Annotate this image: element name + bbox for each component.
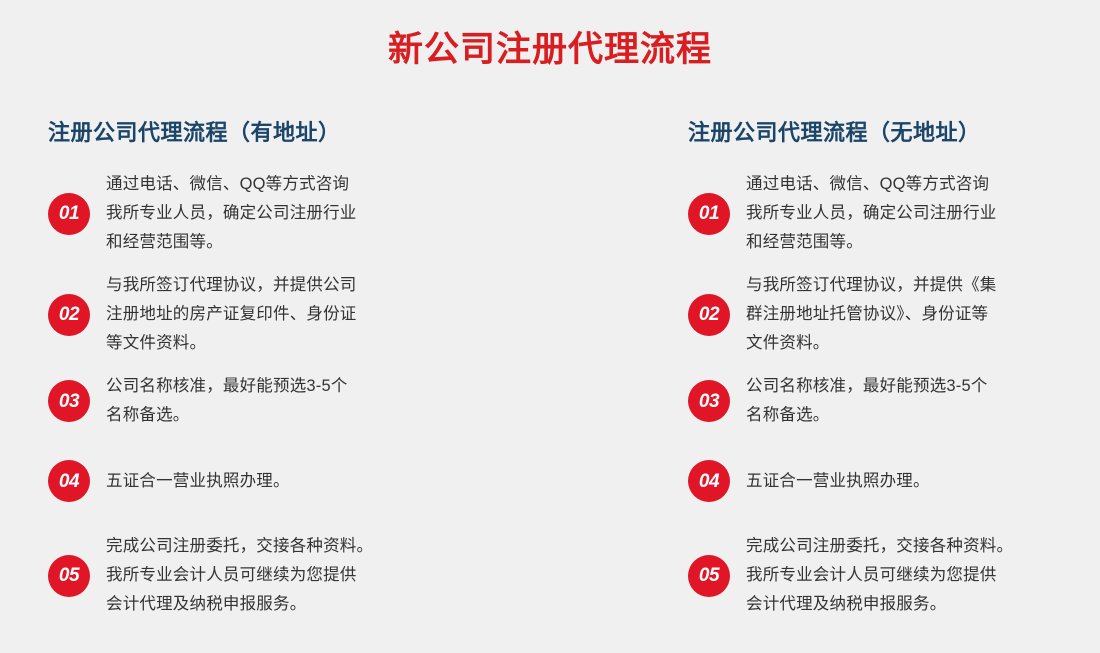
step-item: 03 公司名称核准，最好能预选3-5个 名称备选。 bbox=[48, 372, 550, 430]
step-item: 05 完成公司注册委托，交接各种资料。 我所专业会计人员可继续为您提供 会计代理… bbox=[688, 532, 1100, 619]
step-item: 05 完成公司注册委托，交接各种资料。 我所专业会计人员可继续为您提供 会计代理… bbox=[48, 532, 550, 619]
step-number-badge: 04 bbox=[688, 460, 730, 502]
step-description: 与我所签订代理协议，并提供公司 注册地址的房产证复印件、身份证 等文件资料。 bbox=[106, 271, 357, 358]
columns-container: 注册公司代理流程（有地址） 01 通过电话、微信、QQ等方式咨询 我所专业人员，… bbox=[0, 118, 1100, 633]
step-description: 五证合一营业执照办理。 bbox=[746, 467, 930, 496]
step-number-badge: 02 bbox=[688, 294, 730, 336]
step-item: 04 五证合一营业执照办理。 bbox=[688, 460, 1100, 502]
step-item: 01 通过电话、微信、QQ等方式咨询 我所专业人员，确定公司注册行业 和经营范围… bbox=[688, 170, 1100, 257]
step-description: 通过电话、微信、QQ等方式咨询 我所专业人员，确定公司注册行业 和经营范围等。 bbox=[106, 170, 357, 257]
column-with-address: 注册公司代理流程（有地址） 01 通过电话、微信、QQ等方式咨询 我所专业人员，… bbox=[0, 118, 550, 633]
step-description: 完成公司注册委托，交接各种资料。 我所专业会计人员可继续为您提供 会计代理及纳税… bbox=[106, 532, 373, 619]
step-description: 与我所签订代理协议，并提供《集 群注册地址托管协议》、身份证等 文件资料。 bbox=[746, 271, 997, 358]
steps-list-with-address: 01 通过电话、微信、QQ等方式咨询 我所专业人员，确定公司注册行业 和经营范围… bbox=[48, 170, 550, 619]
step-item: 02 与我所签订代理协议，并提供《集 群注册地址托管协议》、身份证等 文件资料。 bbox=[688, 271, 1100, 358]
step-number-badge: 05 bbox=[688, 555, 730, 597]
step-item: 01 通过电话、微信、QQ等方式咨询 我所专业人员，确定公司注册行业 和经营范围… bbox=[48, 170, 550, 257]
column-heading-with-address: 注册公司代理流程（有地址） bbox=[48, 118, 550, 148]
step-description: 五证合一营业执照办理。 bbox=[106, 467, 290, 496]
steps-list-without-address: 01 通过电话、微信、QQ等方式咨询 我所专业人员，确定公司注册行业 和经营范围… bbox=[688, 170, 1100, 619]
step-number-badge: 01 bbox=[48, 193, 90, 235]
step-item: 03 公司名称核准，最好能预选3-5个 名称备选。 bbox=[688, 372, 1100, 430]
step-description: 公司名称核准，最好能预选3-5个 名称备选。 bbox=[746, 372, 988, 430]
step-number-badge: 01 bbox=[688, 193, 730, 235]
step-number-badge: 02 bbox=[48, 294, 90, 336]
column-without-address: 注册公司代理流程（无地址） 01 通过电话、微信、QQ等方式咨询 我所专业人员，… bbox=[550, 118, 1100, 633]
infographic-page: 新公司注册代理流程 注册公司代理流程（有地址） 01 通过电话、微信、QQ等方式… bbox=[0, 0, 1100, 653]
step-number-badge: 03 bbox=[688, 380, 730, 422]
step-number-badge: 05 bbox=[48, 555, 90, 597]
step-description: 完成公司注册委托，交接各种资料。 我所专业会计人员可继续为您提供 会计代理及纳税… bbox=[746, 532, 1013, 619]
page-title: 新公司注册代理流程 bbox=[0, 28, 1100, 72]
column-heading-without-address: 注册公司代理流程（无地址） bbox=[688, 118, 1100, 148]
step-number-badge: 03 bbox=[48, 380, 90, 422]
step-item: 02 与我所签订代理协议，并提供公司 注册地址的房产证复印件、身份证 等文件资料… bbox=[48, 271, 550, 358]
step-item: 04 五证合一营业执照办理。 bbox=[48, 460, 550, 502]
step-description: 通过电话、微信、QQ等方式咨询 我所专业人员，确定公司注册行业 和经营范围等。 bbox=[746, 170, 997, 257]
step-description: 公司名称核准，最好能预选3-5个 名称备选。 bbox=[106, 372, 348, 430]
step-number-badge: 04 bbox=[48, 460, 90, 502]
